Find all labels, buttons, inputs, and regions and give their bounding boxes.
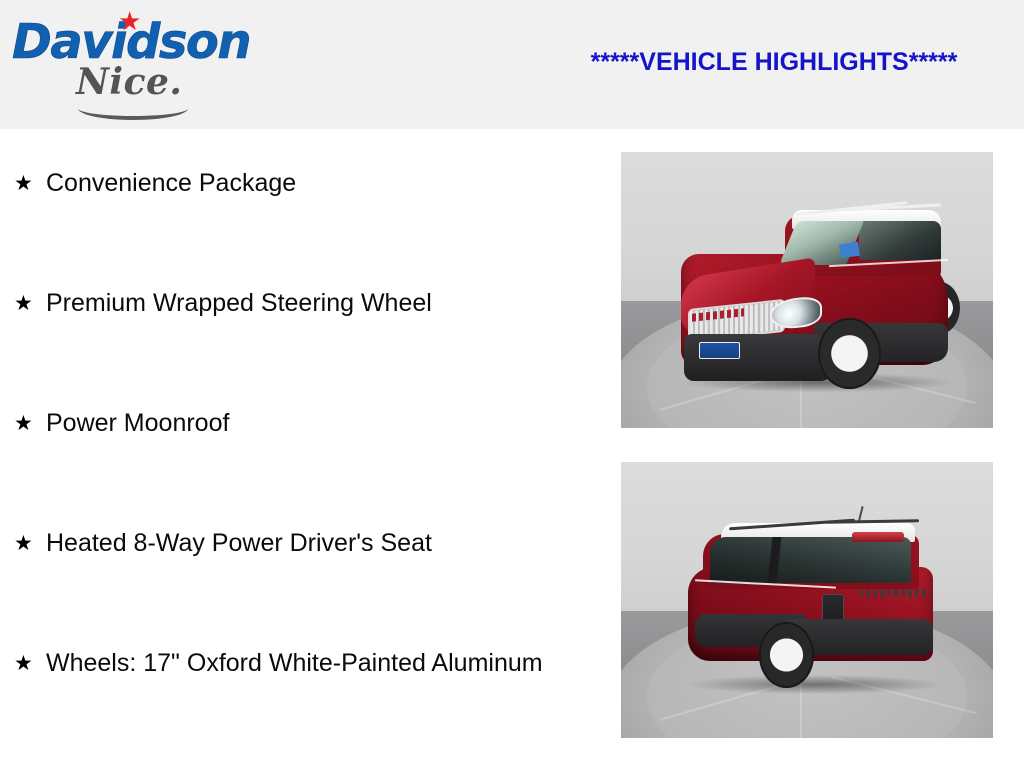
logo-script-wordmark: Nice. bbox=[76, 64, 182, 100]
star-bullet-icon: ★ bbox=[14, 533, 33, 554]
list-item: ★ Convenience Package bbox=[0, 155, 600, 275]
window-sticker bbox=[840, 242, 860, 258]
star-bullet-icon: ★ bbox=[14, 413, 33, 434]
list-item: ★ Wheels: 17" Oxford White-Painted Alumi… bbox=[0, 635, 600, 755]
highlight-label: Wheels: 17" Oxford White-Painted Aluminu… bbox=[46, 635, 546, 681]
vehicle-shadow bbox=[688, 675, 941, 694]
logo-swoosh-underline bbox=[78, 106, 188, 120]
dealer-license-plate bbox=[699, 342, 740, 359]
star-bullet-icon: ★ bbox=[14, 293, 33, 314]
list-item: ★ Power Moonroof bbox=[0, 395, 600, 515]
vehicle-highlights-list: ★ Convenience Package ★ Premium Wrapped … bbox=[0, 155, 600, 755]
rear-glass bbox=[710, 537, 911, 584]
highlight-label: Premium Wrapped Steering Wheel bbox=[46, 275, 546, 321]
dealer-logo[interactable]: Davidson ★ Nice. bbox=[10, 6, 260, 122]
list-item: ★ Heated 8-Way Power Driver's Seat bbox=[0, 515, 600, 635]
vehicle-illustration-front bbox=[621, 152, 993, 428]
tailgate-badge bbox=[859, 589, 930, 597]
list-item: ★ Premium Wrapped Steering Wheel bbox=[0, 275, 600, 395]
vehicle-photo-rear-three-quarter[interactable] bbox=[621, 462, 993, 738]
side-windows bbox=[859, 221, 941, 260]
vehicle-highlights-page: Davidson ★ Nice. *****VEHICLE HIGHLIGHTS… bbox=[0, 0, 1024, 768]
high-mount-brake-light bbox=[852, 532, 904, 542]
vehicle-photo-front-three-quarter[interactable] bbox=[621, 152, 993, 428]
page-header: Davidson ★ Nice. *****VEHICLE HIGHLIGHTS… bbox=[0, 0, 1024, 129]
star-bullet-icon: ★ bbox=[14, 173, 33, 194]
highlight-label: Power Moonroof bbox=[46, 395, 546, 441]
star-icon: ★ bbox=[118, 8, 141, 34]
highlight-label: Heated 8-Way Power Driver's Seat bbox=[46, 515, 546, 561]
highlight-label: Convenience Package bbox=[46, 155, 546, 201]
page-title: *****VEHICLE HIGHLIGHTS***** bbox=[524, 48, 1024, 77]
vehicle-illustration-rear bbox=[621, 462, 993, 738]
star-bullet-icon: ★ bbox=[14, 653, 33, 674]
